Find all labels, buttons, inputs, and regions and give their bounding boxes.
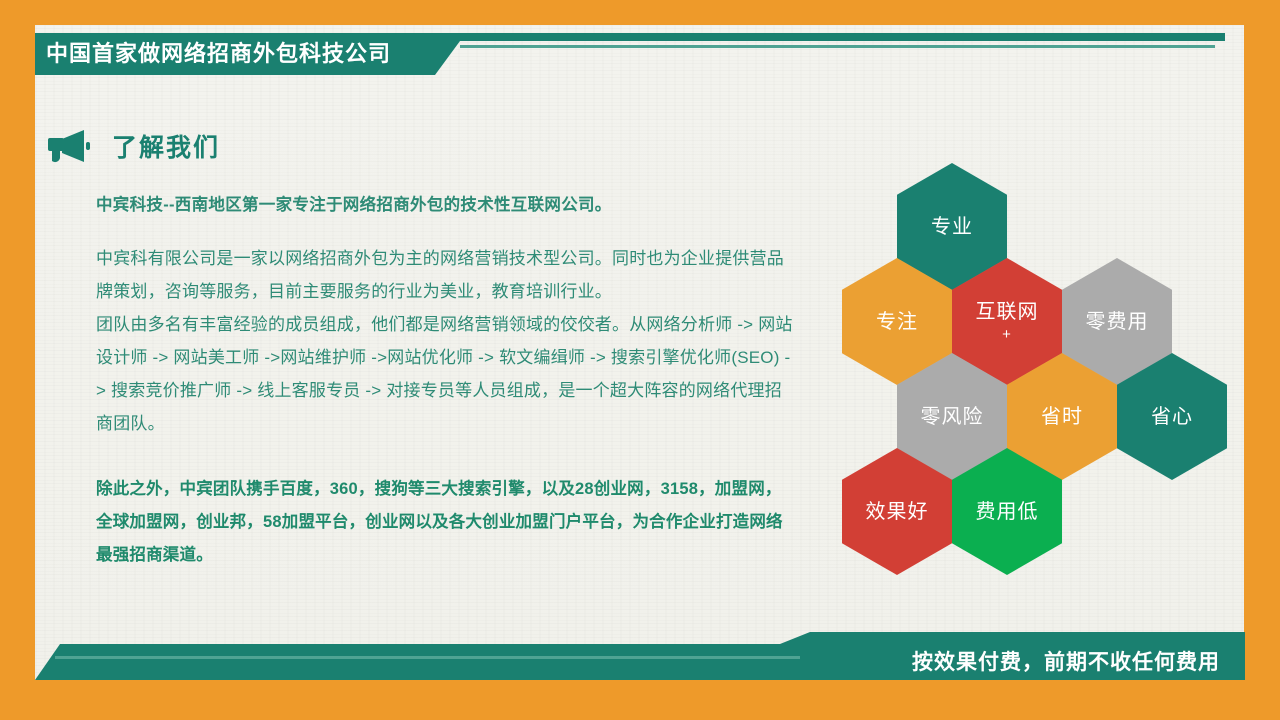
slide-root: 中国首家做网络招商外包科技公司 了解我们 中宾科技--西南地区第一家专注于网络招…	[0, 0, 1280, 720]
section-heading: 了解我们	[46, 128, 220, 164]
about-body: 中宾科技--西南地区第一家专注于网络招商外包的技术性互联网公司。 中宾科有限公司…	[96, 192, 796, 572]
hexagon-label: 零费用	[1086, 310, 1149, 334]
hexagon-sublabel: +	[1002, 326, 1012, 344]
paragraph-team: 团队由多名有丰富经验的成员组成，他们都是网络营销领域的佼佼者。从网络分析师 ->…	[96, 308, 796, 440]
hexagon-label: 省心	[1151, 405, 1193, 429]
hexagon-label: 专业	[931, 215, 973, 239]
section-title: 了解我们	[112, 128, 220, 164]
hexagon-label: 省时	[1041, 405, 1083, 429]
page-title: 中国首家做网络招商外包科技公司	[46, 39, 391, 69]
footer-tagline: 按效果付费，前期不收任何费用	[912, 646, 1220, 676]
hexagon-label: 零风险	[921, 405, 984, 429]
paragraph-channels: 除此之外，中宾团队携手百度，360，搜狗等三大搜索引擎，以及28创业网，3158…	[96, 473, 796, 572]
paragraph-company: 中宾科有限公司是一家以网络招商外包为主的网络营销技术型公司。同时也为企业提供营品…	[96, 242, 796, 308]
lead-statement: 中宾科技--西南地区第一家专注于网络招商外包的技术性互联网公司。	[96, 192, 796, 218]
hexagon-label: 互联网	[976, 300, 1039, 324]
hexagon-label: 专注	[876, 310, 918, 334]
hexagon-label: 费用低	[976, 500, 1039, 524]
hexagon-cluster: 专业专注互联网+零费用零风险省时省心效果好费用低	[836, 160, 1236, 540]
megaphone-icon	[46, 129, 90, 163]
hexagon-label: 效果好	[866, 500, 929, 524]
